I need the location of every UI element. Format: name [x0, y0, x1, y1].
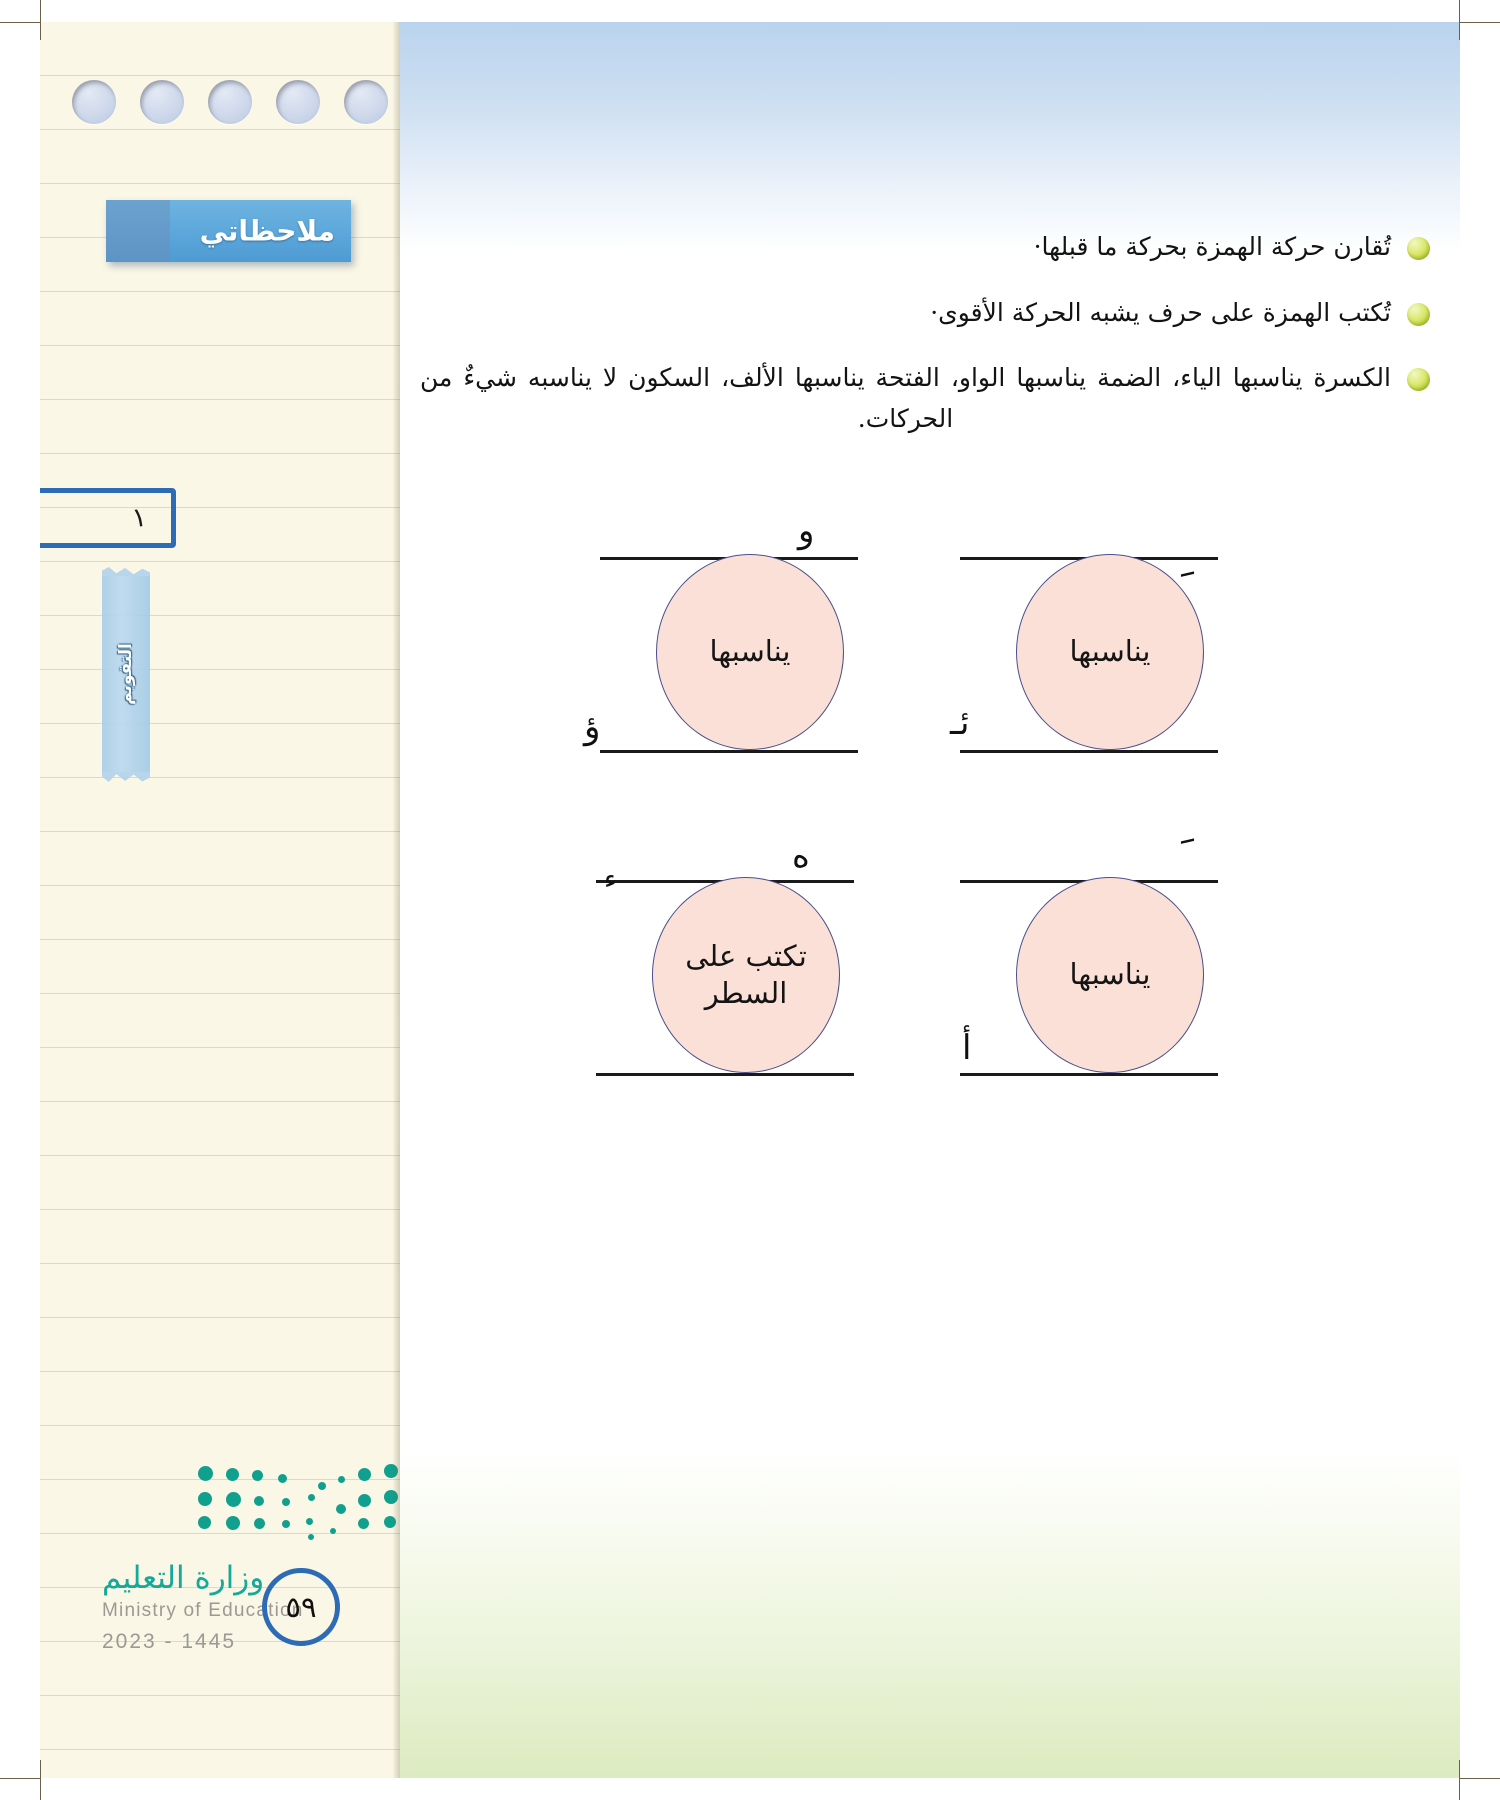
cell-circle: تكتب على السطر: [652, 877, 840, 1073]
crop-mark-bottom-right-v: [1459, 1760, 1460, 1800]
cell-circle-text: يناسبها: [675, 633, 825, 670]
cell-circle: يناسبها: [656, 554, 844, 750]
diagram-cell-top-right: يناسبها َ ئـ: [960, 527, 1260, 777]
punch-hole-icon: [208, 80, 252, 124]
notes-tab-banner[interactable]: ملاحظاتي: [106, 200, 351, 262]
notebook-sidebar: ملاحظاتي ١ التقويم: [40, 22, 400, 1778]
crop-mark-top-left-h: [0, 22, 40, 23]
cell-bottom-line: [600, 750, 858, 753]
ministry-years: 2023 - 1445: [102, 1630, 372, 1654]
list-item: الكسرة يناسبها الياء، الضمة يناسبها الوا…: [420, 358, 1430, 439]
crop-mark-top-left-v: [40, 0, 41, 40]
ministry-dot-pattern-icon: [190, 1462, 400, 1532]
cell-bottom-line: [960, 1073, 1218, 1076]
list-item-text: الكسرة يناسبها الياء، الضمة يناسبها الوا…: [420, 358, 1391, 439]
diagram-cell-bottom-left: تكتب على السطر ه ء: [596, 850, 896, 1100]
vertical-tape-label: التقويم: [102, 574, 150, 774]
punch-hole-row: [40, 80, 400, 140]
green-bullet-icon: [1407, 237, 1430, 260]
notes-tab-accent: [106, 200, 170, 262]
notes-tab-label: ملاحظاتي: [200, 215, 335, 248]
list-item: تُكتب الهمزة على حرف يشبه الحركة الأقوى·: [420, 293, 1430, 334]
textbook-page: ملاحظاتي ١ التقويم: [40, 22, 1460, 1778]
green-bullet-icon: [1407, 368, 1430, 391]
cell-bottom-line: [960, 750, 1218, 753]
page-number-circle: ٥٩: [262, 1568, 340, 1646]
cell-circle: يناسبها: [1016, 554, 1204, 750]
cell-mark-below: أ: [962, 1028, 971, 1068]
cell-mark-above: و: [798, 511, 814, 551]
crop-mark-bottom-right-h: [1460, 1778, 1500, 1779]
main-content: تُقارن حركة الهمزة بحركة ما قبلها· تُكتب…: [400, 22, 1460, 1778]
punch-hole-icon: [72, 80, 116, 124]
diagram-cell-bottom-right: يناسبها َ أ: [960, 850, 1260, 1100]
handwritten-number-box: ١: [40, 488, 176, 548]
cell-circle-text: تكتب على السطر: [671, 938, 821, 1012]
cell-bottom-line: [596, 1073, 854, 1076]
handwritten-number: ١: [130, 502, 149, 535]
crop-mark-top-right-v: [1459, 0, 1460, 40]
page-number: ٥٩: [285, 1590, 316, 1624]
list-item-text: تُكتب الهمزة على حرف يشبه الحركة الأقوى·: [420, 293, 1391, 334]
punch-hole-icon: [276, 80, 320, 124]
list-item: تُقارن حركة الهمزة بحركة ما قبلها·: [420, 227, 1430, 268]
green-bullet-icon: [1407, 303, 1430, 326]
diagram-cell-top-left: يناسبها و ؤ: [600, 527, 900, 777]
bullet-list: تُقارن حركة الهمزة بحركة ما قبلها· تُكتب…: [420, 227, 1430, 464]
crop-mark-bottom-left-h: [0, 1778, 40, 1779]
notebook-edge-shadow: [393, 22, 400, 1778]
cell-circle: يناسبها: [1016, 877, 1204, 1073]
crop-mark-bottom-left-v: [40, 1760, 41, 1800]
cell-mark-below: ؤ: [584, 707, 600, 747]
punch-hole-icon: [344, 80, 388, 124]
cell-circle-text: يناسبها: [1035, 956, 1185, 993]
cell-circle-text: يناسبها: [1035, 633, 1185, 670]
cell-mark-below: ئـ: [950, 703, 969, 743]
crop-mark-top-right-h: [1460, 22, 1500, 23]
punch-hole-icon: [140, 80, 184, 124]
hamza-diagram: يناسبها َ ئـ يناسبها و ؤ: [400, 527, 1460, 1167]
tape-label-text: التقويم: [116, 643, 136, 705]
list-item-text: تُقارن حركة الهمزة بحركة ما قبلها·: [420, 227, 1391, 268]
cell-mark-above-secondary: ء: [604, 864, 617, 895]
cell-mark-above: ه: [792, 836, 810, 876]
